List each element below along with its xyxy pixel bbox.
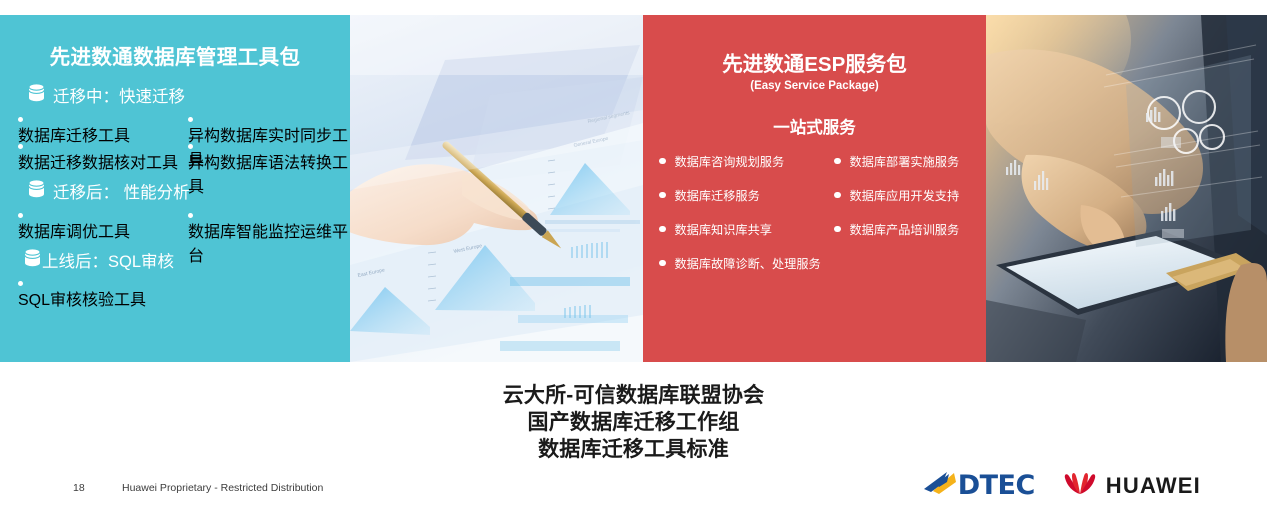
bullet-dot-icon [834, 158, 841, 165]
red-panel-title: 先进数通ESP服务包 [651, 47, 978, 77]
red-panel-subtitle: (Easy Service Package) [651, 80, 978, 92]
red-panel-service-list: 数据库咨询规划服务 数据库部署实施服务 数据库迁移服务 数据库应用开发支持 数据… [659, 152, 978, 272]
bullet-dot-icon [188, 117, 193, 122]
bullet-dot-icon [659, 260, 666, 267]
list-item: 数据库智能监控运维平台 [188, 213, 358, 233]
caption-line-1: 云大所-可信数据库联盟协会 [0, 382, 1267, 409]
list-item: SQL审核核验工具 [18, 281, 340, 301]
list-item-label: 异构数据库语法转换工具 [188, 155, 348, 196]
list-item-label: 数据库迁移工具 [18, 128, 130, 145]
list-item: 数据库知识库共享 [659, 220, 834, 238]
bullet-dot-icon [18, 144, 23, 149]
teal-section-heading-label: 迁移后： 性能分析 [53, 179, 190, 203]
right-photo-tablet-touch [986, 15, 1267, 362]
list-item: 数据库迁移服务 [659, 186, 834, 204]
list-item: 异构数据库语法转换工具 [188, 144, 358, 164]
logo-row: DTEC HUAWEI [923, 470, 1201, 501]
bullet-dot-icon [188, 213, 193, 218]
red-panel-esp-service-package: 先进数通ESP服务包 (Easy Service Package) 一站式服务 … [643, 15, 986, 362]
database-icon [28, 179, 45, 204]
bullet-dot-icon [834, 192, 841, 199]
teal-section-heading-label: 上线后：SQL审核 [42, 248, 174, 272]
teal-section-heading-migrating: 迁移中：快速迁移 [28, 82, 340, 108]
list-item: 数据库调优工具 [18, 213, 188, 233]
list-item: 数据迁移数据核对工具 [18, 144, 188, 164]
slide-root: 先进数通数据库管理工具包 迁移中：快速迁移 数据库迁移工具 [0, 0, 1267, 510]
bullet-dot-icon [18, 281, 23, 286]
list-item-label: 数据库故障诊断、处理服务 [675, 254, 821, 272]
confidentiality-note: Huawei Proprietary - Restricted Distribu… [122, 482, 323, 494]
teal-section-bullets-after-migration: 数据库调优工具 数据库智能监控运维平台 [18, 213, 340, 233]
bullet-dot-icon [659, 192, 666, 199]
list-item: 异构数据库实时同步工具 [188, 117, 358, 137]
caption-block: 云大所-可信数据库联盟协会 国产数据库迁移工作组 数据库迁移工具标准 [0, 382, 1267, 463]
list-item-label: 数据库部署实施服务 [850, 152, 960, 170]
teal-section-bullets-after-golive: SQL审核核验工具 [18, 281, 340, 301]
bullet-dot-icon [188, 144, 193, 149]
list-item-label: 数据库应用开发支持 [850, 186, 960, 204]
banner-strip: 先进数通数据库管理工具包 迁移中：快速迁移 数据库迁移工具 [0, 15, 1267, 362]
dtec-logo: DTEC [923, 470, 1035, 501]
list-item-label: 数据库知识库共享 [675, 220, 773, 238]
list-item-label: 数据库产品培训服务 [850, 220, 960, 238]
dtec-wordmark: DTEC [958, 470, 1035, 501]
bullet-dot-icon [18, 117, 23, 122]
bullet-dot-icon [659, 158, 666, 165]
dtec-mark-icon [923, 470, 957, 501]
list-item-label: 数据库智能监控运维平台 [188, 224, 348, 265]
list-item: 数据库部署实施服务 [834, 152, 994, 170]
teal-section-bullets-migrating: 数据库迁移工具 异构数据库实时同步工具 数据迁移数据核对工具 异构数据库语法转换… [18, 117, 340, 164]
list-item: 数据库应用开发支持 [834, 186, 994, 204]
list-item: 数据库咨询规划服务 [659, 152, 834, 170]
list-item: 数据库产品培训服务 [834, 220, 994, 238]
teal-panel-database-toolkit: 先进数通数据库管理工具包 迁移中：快速迁移 数据库迁移工具 [0, 15, 350, 362]
teal-section-heading-label: 迁移中：快速迁移 [53, 83, 185, 107]
red-panel-section-heading: 一站式服务 [651, 114, 978, 138]
list-item-label: 数据库调优工具 [18, 224, 130, 241]
list-item-label: 数据迁移数据核对工具 [18, 155, 178, 172]
caption-line-2: 国产数据库迁移工作组 [0, 409, 1267, 436]
list-item: 数据库迁移工具 [18, 117, 188, 137]
database-icon [28, 83, 45, 108]
bullet-dot-icon [659, 226, 666, 233]
list-item-label: SQL审核核验工具 [18, 292, 146, 309]
page-number: 18 [73, 482, 85, 494]
teal-panel-title: 先进数通数据库管理工具包 [10, 40, 340, 70]
bullet-dot-icon [834, 226, 841, 233]
huawei-logo: HUAWEI [1063, 470, 1201, 501]
caption-line-3: 数据库迁移工具标准 [0, 436, 1267, 463]
huawei-wordmark: HUAWEI [1106, 473, 1201, 499]
huawei-flower-icon [1063, 470, 1097, 501]
list-item-label: 数据库迁移服务 [675, 186, 760, 204]
list-item: 数据库故障诊断、处理服务 [659, 254, 994, 272]
database-icon [24, 248, 41, 273]
bullet-dot-icon [18, 213, 23, 218]
list-item-label: 数据库咨询规划服务 [675, 152, 785, 170]
middle-photo-hand-writing-charts: Regional segments General Europe West Eu… [350, 15, 643, 362]
